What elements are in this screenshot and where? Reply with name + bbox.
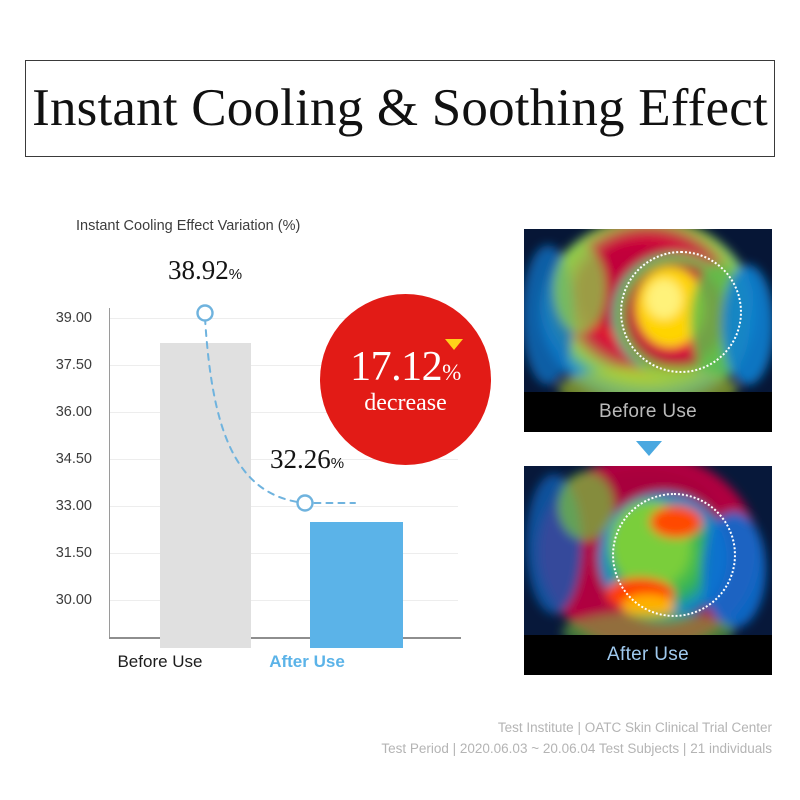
value-label-after-percent: % bbox=[331, 455, 344, 472]
footer: Test Institute | OATC Skin Clinical Tria… bbox=[381, 718, 772, 760]
y-tick-label: 36.00 bbox=[28, 404, 92, 420]
footer-line-period: Test Period | 2020.06.03 ~ 20.06.04 Test… bbox=[381, 739, 772, 760]
y-tick-label: 30.00 bbox=[28, 592, 92, 608]
down-arrow-icon bbox=[636, 441, 662, 456]
chart-title: Instant Cooling Effect Variation (%) bbox=[76, 218, 300, 234]
y-tick-label: 37.50 bbox=[28, 357, 92, 373]
thermal-caption-after-use: After Use bbox=[524, 635, 772, 675]
value-label-before-percent: % bbox=[229, 266, 242, 283]
decrease-badge-number: 17.12 bbox=[350, 344, 442, 390]
footer-line-institute: Test Institute | OATC Skin Clinical Tria… bbox=[381, 718, 772, 739]
value-label-after-number: 32.26 bbox=[270, 444, 331, 474]
y-tick-label: 39.00 bbox=[28, 310, 92, 326]
decrease-badge: 17.12% decrease bbox=[320, 294, 491, 465]
thermal-caption-before-use: Before Use bbox=[524, 392, 772, 432]
page-title-box: Instant Cooling & Soothing Effect bbox=[25, 60, 775, 157]
y-tick-label: 31.50 bbox=[28, 545, 92, 561]
decrease-badge-value-row: 17.12% bbox=[350, 348, 461, 388]
decrease-badge-subtitle: decrease bbox=[364, 390, 447, 417]
y-tick-label: 33.00 bbox=[28, 498, 92, 514]
value-label-before-use: 38.92% bbox=[130, 255, 280, 286]
region-of-interest-circle-before bbox=[620, 251, 742, 373]
thermal-card-after-use[interactable]: After Use bbox=[524, 466, 772, 675]
category-label-before-use: Before Use bbox=[85, 652, 235, 672]
bar-before-use[interactable] bbox=[160, 343, 251, 648]
thermal-card-before-use[interactable]: Before Use bbox=[524, 229, 772, 432]
region-of-interest-circle-after bbox=[612, 493, 736, 617]
y-axis-labels: 39.00 37.50 36.00 34.50 33.00 31.50 30.0… bbox=[28, 308, 92, 648]
down-triangle-icon bbox=[445, 339, 463, 350]
bar-after-use[interactable] bbox=[310, 522, 403, 648]
y-tick-label: 34.50 bbox=[28, 451, 92, 467]
decrease-badge-percent: % bbox=[442, 360, 461, 385]
value-label-before-number: 38.92 bbox=[168, 255, 229, 285]
page-title: Instant Cooling & Soothing Effect bbox=[32, 82, 768, 135]
category-label-after-use: After Use bbox=[232, 652, 382, 672]
